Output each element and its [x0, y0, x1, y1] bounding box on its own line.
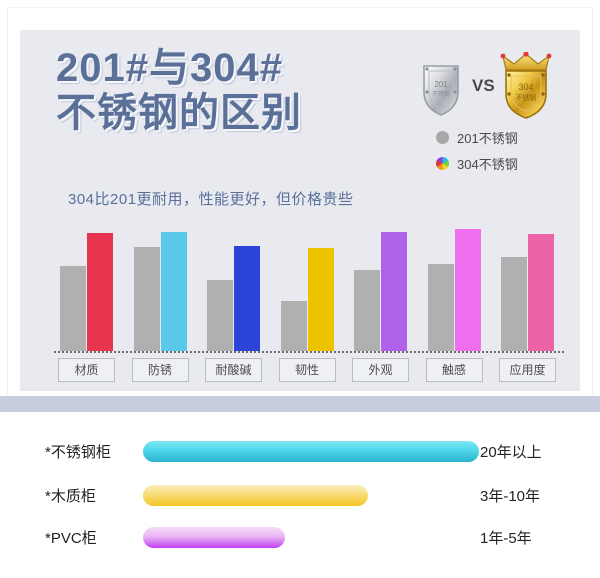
category-label-触感: 触感 — [426, 358, 483, 382]
lifespan-label-steel: *不锈钢柜 — [45, 441, 155, 462]
category-label-耐酸碱: 耐酸碱 — [205, 358, 262, 382]
lifespan-bar-wood — [143, 485, 368, 506]
lifespan-bar-pvc — [143, 527, 285, 548]
bar-201-外观 — [354, 270, 380, 351]
svg-text:304: 304 — [518, 82, 533, 92]
infographic-top-card: 201#与304# 不锈钢的区别 304比201更耐用，性能更好，但价格贵些 2… — [8, 8, 592, 396]
category-label-应用度: 应用度 — [499, 358, 556, 382]
lifespan-row-0: *不锈钢柜20年以上 — [0, 436, 600, 466]
bar-304-应用度 — [528, 234, 554, 351]
title-line-1: 201#与304# — [56, 46, 386, 91]
bar-304-韧性 — [308, 248, 334, 351]
gold-crown-shield-icon: 304 不锈钢 — [498, 52, 554, 127]
legend-swatch-multicolor-icon — [436, 157, 449, 170]
bar-group-6 — [501, 234, 554, 351]
lifespan-bar-steel — [143, 441, 479, 462]
bar-group-4 — [354, 232, 407, 351]
bar-201-材质 — [60, 266, 86, 351]
chart-baseline — [54, 351, 566, 353]
legend-swatch-gray-icon — [436, 131, 449, 144]
bar-304-防锈 — [161, 232, 187, 351]
comparison-bar-chart — [48, 213, 568, 353]
svg-text:201: 201 — [434, 80, 448, 89]
silver-shield-icon: 201 不锈钢 — [420, 62, 462, 123]
lifespan-row-1: *木质柜3年-10年 — [0, 480, 600, 510]
lifespan-value-steel: 20年以上 — [480, 441, 542, 462]
lifespan-value-pvc: 1年-5年 — [480, 527, 532, 548]
category-label-材质: 材质 — [58, 358, 115, 382]
bar-group-5 — [428, 229, 481, 351]
subtitle-text: 304比201更耐用，性能更好，但价格贵些 — [68, 188, 354, 209]
bar-group-2 — [207, 246, 260, 351]
lifespan-label-wood: *木质柜 — [45, 485, 155, 506]
bar-201-触感 — [428, 264, 454, 351]
legend-label-304: 304不锈钢 — [457, 154, 518, 173]
category-label-韧性: 韧性 — [279, 358, 336, 382]
chart-legend: 201不锈钢 304不锈钢 — [436, 128, 518, 180]
category-label-外观: 外观 — [352, 358, 409, 382]
lifespan-value-wood: 3年-10年 — [480, 485, 540, 506]
bar-304-材质 — [87, 233, 113, 351]
emblem-comparison: 201 不锈钢 VS — [412, 50, 572, 120]
svg-text:不锈钢: 不锈钢 — [516, 93, 537, 102]
legend-label-201: 201不锈钢 — [457, 128, 518, 147]
bar-304-触感 — [455, 229, 481, 351]
lifespan-section: *不锈钢柜20年以上*木质柜3年-10年*PVC柜1年-5年 — [0, 418, 600, 578]
svg-text:不锈钢: 不锈钢 — [432, 90, 450, 98]
bar-201-韧性 — [281, 301, 307, 351]
title-line-2: 不锈钢的区别 — [56, 91, 386, 136]
bar-304-外观 — [381, 232, 407, 351]
lifespan-row-2: *PVC柜1年-5年 — [0, 522, 600, 552]
legend-item-304: 304不锈钢 — [436, 154, 518, 173]
bar-304-耐酸碱 — [234, 246, 260, 351]
bar-group-1 — [134, 232, 187, 351]
category-label-防锈: 防锈 — [132, 358, 189, 382]
bar-group-0 — [60, 233, 113, 351]
lifespan-label-pvc: *PVC柜 — [45, 527, 155, 548]
bar-group-3 — [281, 248, 334, 351]
section-divider-band — [0, 396, 600, 412]
legend-item-201: 201不锈钢 — [436, 128, 518, 147]
bar-201-应用度 — [501, 257, 527, 351]
bar-201-耐酸碱 — [207, 280, 233, 351]
vs-label: VS — [472, 76, 495, 96]
page-title: 201#与304# 不锈钢的区别 — [56, 46, 386, 136]
chart-category-labels: 材质防锈耐酸碱韧性外观触感应用度 — [48, 358, 568, 380]
bar-201-防锈 — [134, 247, 160, 351]
